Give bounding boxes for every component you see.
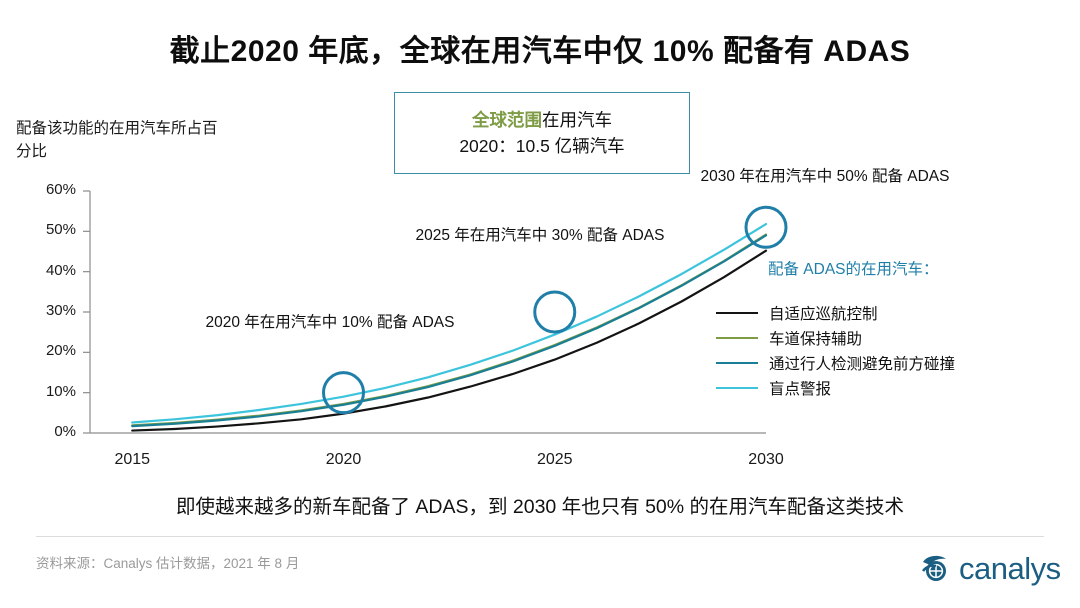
y-tick-label: 30% — [18, 302, 76, 319]
canalys-logo: canalys — [920, 551, 1061, 585]
legend-color-swatch — [716, 312, 758, 314]
legend-item[interactable]: 通过行人检测避免前方碰撞 — [716, 350, 1066, 375]
annotation-2025: 2025 年在用汽车中 30% 配备 ADAS — [415, 224, 665, 247]
takeaway-text: 即使越来越多的新车配备了 ADAS，到 2030 年也只有 50% 的在用汽车配… — [0, 490, 1080, 519]
slide-root: 截止2020 年底，全球在用汽车中仅 10% 配备有 ADAS 配备该功能的在用… — [0, 0, 1080, 608]
x-tick-label: 2015 — [87, 451, 177, 469]
x-tick-label: 2025 — [510, 451, 600, 469]
y-tick-label: 0% — [18, 423, 76, 440]
annotation-2030: 2030 年在用汽车中 50% 配备 ADAS — [700, 165, 950, 188]
source-note: 资料来源：Canalys 估计数据，2021 年 8 月 — [36, 552, 299, 572]
chart-legend: 自适应巡航控制车道保持辅助通过行人检测避免前方碰撞盲点警报 — [716, 300, 1066, 400]
legend-title: 配备 ADAS的在用汽车： — [768, 257, 939, 279]
legend-color-swatch — [716, 387, 758, 389]
legend-item[interactable]: 自适应巡航控制 — [716, 300, 1066, 325]
legend-item-label: 盲点警报 — [769, 377, 831, 399]
y-tick-label: 60% — [18, 181, 76, 198]
footer-divider — [36, 536, 1044, 537]
legend-item-label: 车道保持辅助 — [769, 327, 862, 349]
canalys-wordmark: canalys — [959, 553, 1061, 584]
y-tick-label: 20% — [18, 342, 76, 359]
legend-color-swatch — [716, 337, 758, 339]
legend-item[interactable]: 车道保持辅助 — [716, 325, 1066, 350]
y-tick-label: 10% — [18, 383, 76, 400]
y-tick-label: 40% — [18, 262, 76, 279]
annotation-2020: 2020 年在用汽车中 10% 配备 ADAS — [205, 311, 455, 334]
legend-item[interactable]: 盲点警报 — [716, 375, 1066, 400]
y-tick-label: 50% — [18, 221, 76, 238]
legend-item-label: 自适应巡航控制 — [769, 302, 878, 324]
x-tick-label: 2020 — [299, 451, 389, 469]
canalys-globe-icon — [920, 551, 954, 585]
x-tick-label: 2030 — [721, 451, 811, 469]
legend-color-swatch — [716, 362, 758, 364]
legend-item-label: 通过行人检测避免前方碰撞 — [769, 352, 955, 374]
